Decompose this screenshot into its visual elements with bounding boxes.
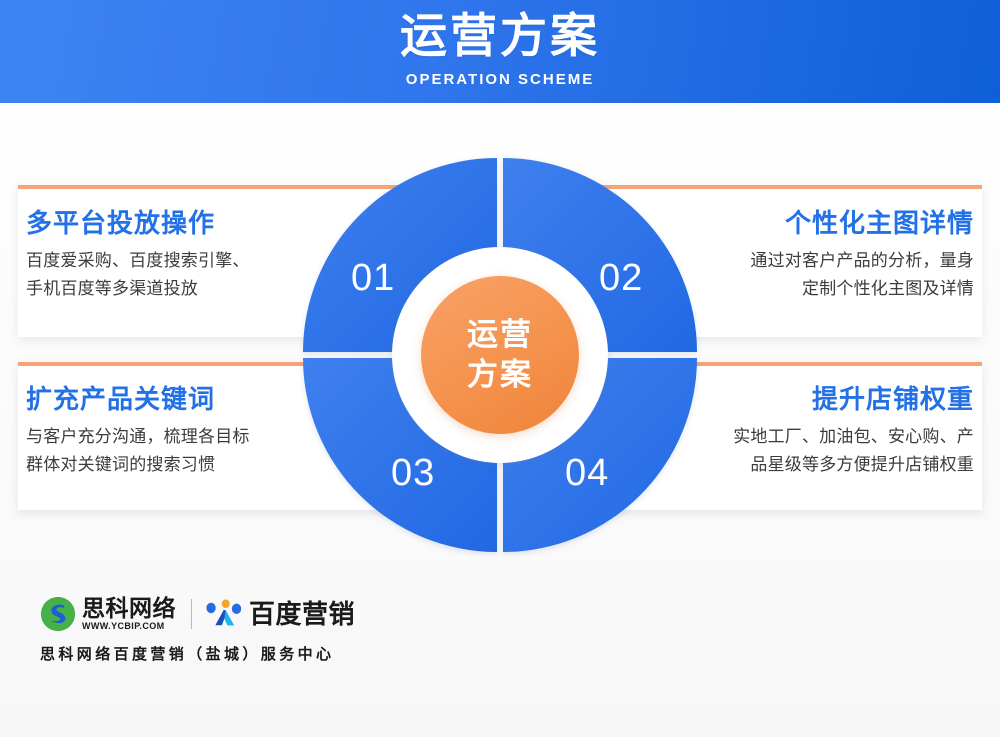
page-title: 运营方案 [0, 8, 1000, 64]
operation-scheme-infographic: 运营方案 OPERATION SCHEME 多平台投放操作 百度爱采购、百度搜索… [0, 0, 1000, 737]
brand-divider [191, 599, 192, 629]
page-subtitle: OPERATION SCHEME [0, 71, 1000, 88]
partner-name: 百度营销 [249, 600, 355, 628]
baidu-logo-icon [205, 599, 243, 629]
donut-center-label: 运营 方案 [421, 276, 579, 434]
company-name: 思科网络 [82, 596, 176, 620]
service-center-label: 思科网络百度营销（盐城）服务中心 [40, 643, 460, 664]
sike-logo-icon [40, 596, 76, 632]
center-label-line2: 方案 [467, 355, 533, 395]
company-url: WWW.YCBIP.COM [82, 621, 176, 632]
donut-diagram: 01 02 03 04 运营 方案 [303, 158, 697, 552]
header-banner: 运营方案 OPERATION SCHEME [0, 0, 1000, 103]
center-label-line1: 运营 [467, 315, 533, 355]
brand-row: 思科网络 WWW.YCBIP.COM 百度营销 [40, 592, 460, 636]
sike-wordmark: 思科网络 WWW.YCBIP.COM [82, 596, 176, 632]
donut-number-02: 02 [599, 258, 643, 298]
donut-number-03: 03 [391, 453, 435, 493]
donut-number-04: 04 [565, 453, 609, 493]
donut-number-01: 01 [351, 258, 395, 298]
footer-branding: 思科网络 WWW.YCBIP.COM 百度营销 思科网络百度营销（盐城）服务中心 [40, 592, 460, 664]
